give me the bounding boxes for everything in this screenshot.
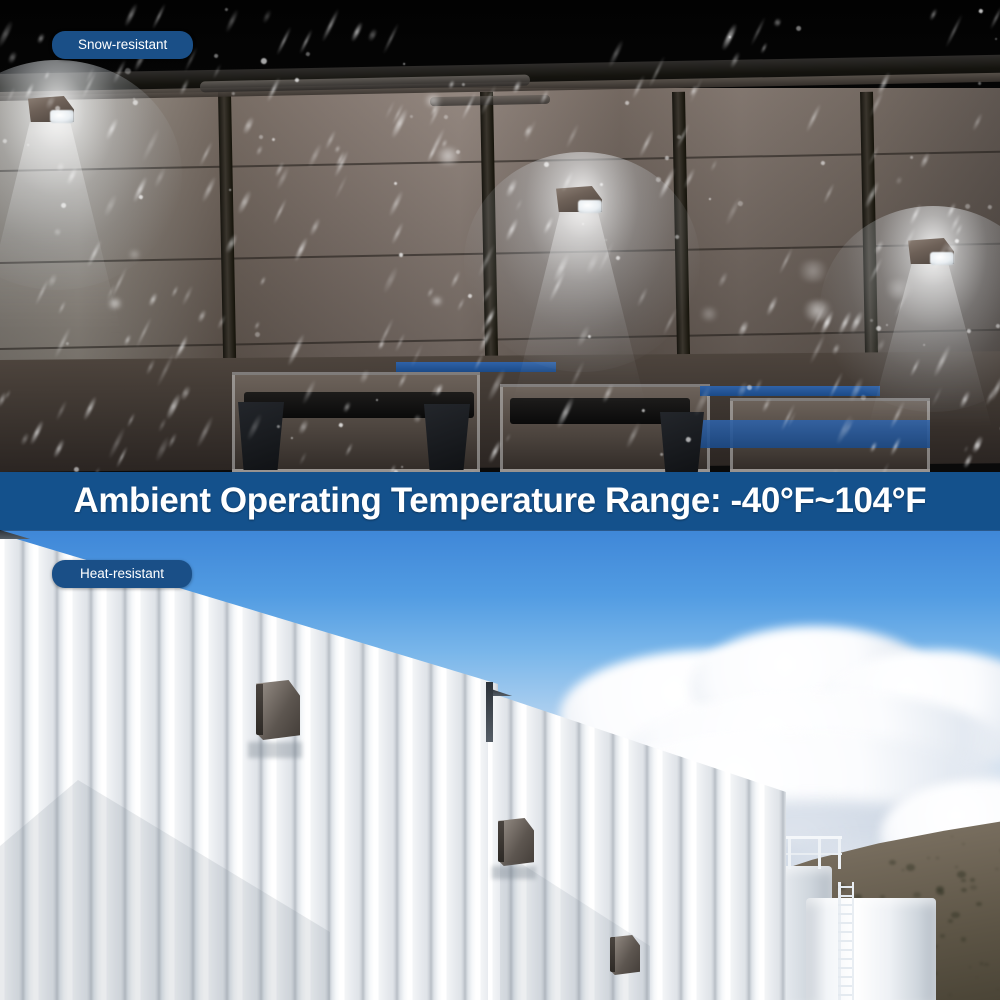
ladder-rung [838,967,854,969]
dock-curtain [238,402,284,470]
ladder-rung [838,913,854,915]
ladder-rung [838,994,854,996]
wall-pack-light-fixture [498,818,534,866]
shrub [957,871,966,878]
storage-tank [806,898,936,1000]
dock-curtain [660,412,704,472]
tank-ladder [838,882,854,1000]
dock-curtain [424,404,470,470]
fixture-lens [50,110,74,123]
wall-pack-light-fixture [610,935,640,975]
heat-resistant-scene: Heat-resistant [0,530,1000,1000]
fixture-lens [578,200,602,213]
ladder-rung [838,949,854,951]
ladder-rung [838,922,854,924]
fixture-shadow [492,866,536,879]
temperature-range-text: Ambient Operating Temperature Range: -40… [74,483,927,519]
shrub [936,889,944,895]
shrub [980,962,983,964]
shrub [906,864,915,871]
ladder-rung [838,886,854,888]
ladder-rung [838,976,854,978]
ladder-rung [838,931,854,933]
dock-trim-blue [700,386,880,396]
badge-snow-resistant-label: Snow-resistant [78,37,167,52]
building-step-edge [486,682,493,742]
shrub [961,888,967,893]
shrub [913,892,921,898]
badge-heat-resistant[interactable]: Heat-resistant [52,560,192,588]
wall-pack-light-fixture [256,680,300,740]
ladder-rung [838,895,854,897]
fixture-mount-plate [610,937,615,971]
ladder-rung [838,958,854,960]
ladder-rung [838,940,854,942]
shrub [961,937,967,941]
ladder-rung [838,904,854,906]
dock-trim-blue [700,420,930,448]
temperature-range-banner: Ambient Operating Temperature Range: -40… [0,472,1000,530]
fixture-mount-plate [498,821,504,862]
dock-trim-blue [396,362,556,372]
shrub [961,879,966,882]
badge-snow-resistant[interactable]: Snow-resistant [52,31,193,59]
night-building-wall [0,88,1000,388]
shrub [902,869,904,871]
ladder-rung [838,985,854,987]
shrub [976,977,978,979]
shrub [940,934,945,938]
fixture-shadow [248,742,302,758]
fixture-lens [930,252,954,265]
shrub [948,919,952,922]
snow-resistant-scene: Snow-resistant [0,0,1000,472]
badge-heat-resistant-label: Heat-resistant [80,566,164,581]
fixture-mount-plate [256,684,263,736]
